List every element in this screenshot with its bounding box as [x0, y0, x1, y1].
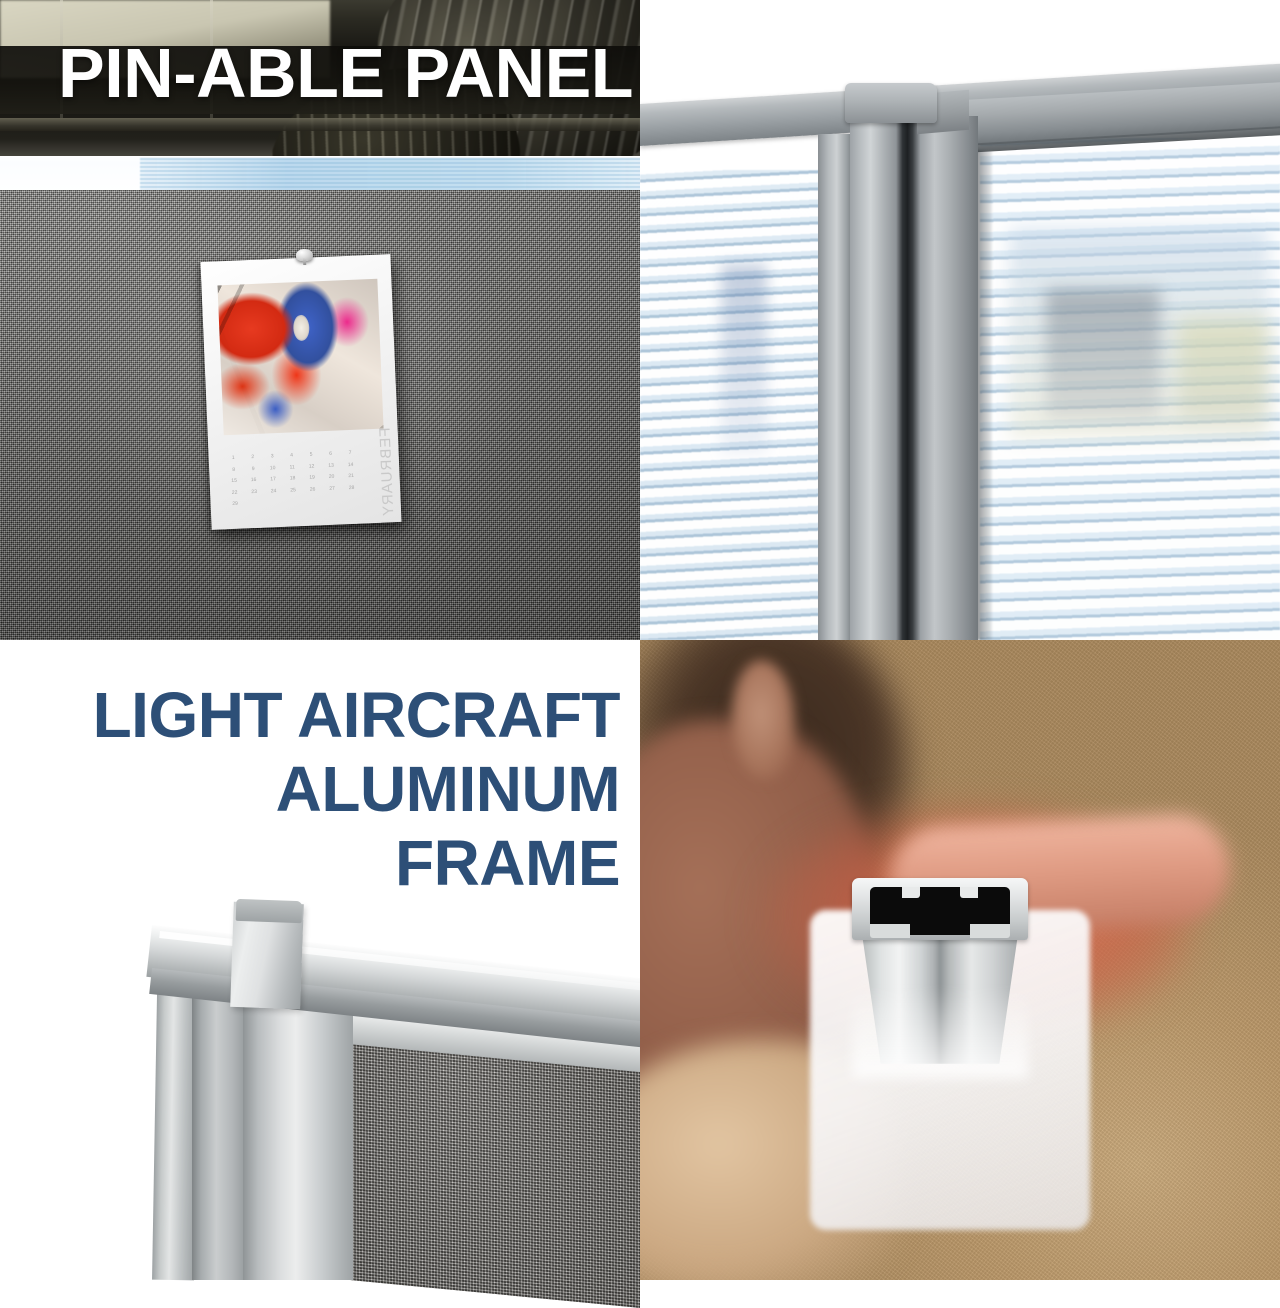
calendar-day: 15 — [227, 476, 240, 488]
calendar-day — [345, 494, 358, 506]
calendar-day: 23 — [247, 486, 260, 498]
calendar-day: 2 — [246, 452, 259, 464]
calendar-day — [267, 497, 280, 509]
fabric-texture — [350, 1035, 640, 1308]
caption-pin-able-panel: PIN-ABLE PANEL — [58, 38, 628, 108]
aluminum-post-front — [243, 985, 353, 1280]
window-foliage — [1178, 319, 1268, 419]
window-building — [1046, 289, 1160, 420]
calendar-day: 27 — [325, 483, 338, 495]
calendar-day — [287, 496, 300, 508]
calendar-day: 24 — [267, 485, 280, 497]
panel-pin-able-panel: 1 2 3 4 5 6 7 8 9 10 11 12 13 14 — [0, 0, 640, 640]
slatted-panel-right — [980, 138, 1280, 640]
calendar-day: 22 — [228, 487, 241, 499]
aluminum-corner-cap — [236, 899, 303, 923]
calendar-day: 7 — [343, 448, 356, 460]
extrusion-depth-blur — [852, 988, 1028, 1078]
post-cap-top — [845, 83, 937, 123]
pinned-calendar: 1 2 3 4 5 6 7 8 9 10 11 12 13 14 — [200, 254, 401, 530]
calendar-day: 12 — [305, 461, 318, 473]
calendar-day — [326, 495, 339, 507]
calendar-day: 14 — [344, 459, 357, 471]
calendar-day: 13 — [324, 460, 337, 472]
extrusion-lip-left — [870, 924, 910, 938]
extrusion-notch-left — [902, 887, 920, 898]
caption-line: ALUMINUM — [20, 752, 620, 826]
calendar-day — [248, 498, 261, 510]
window-glare-band — [0, 156, 640, 192]
calendar-day: 25 — [286, 485, 299, 497]
caption-line: LIGHT AIRCRAFT — [20, 678, 620, 752]
panel-toolless-assembly: TOOLLESS ASSEMBLY — [640, 640, 1280, 1280]
pin-stem — [303, 258, 306, 265]
caption-line: PIN-ABLE PANEL — [58, 38, 628, 108]
aluminum-post-mid — [192, 960, 250, 1280]
extrusion-notch-right — [960, 887, 978, 898]
aluminum-extrusion-profile — [852, 878, 1028, 1068]
calendar-day: 18 — [286, 473, 299, 485]
calendar-day: 8 — [227, 464, 240, 476]
calendar-day: 28 — [345, 482, 358, 494]
panel-customizable-configuration: CUSTOMIZABLE CONFIGURATION — [640, 0, 1280, 640]
ceiling-beam — [0, 118, 640, 131]
push-pin-icon — [296, 249, 314, 267]
fabric-insert-panel — [350, 1035, 640, 1308]
caption-light-aircraft-aluminum-frame: LIGHT AIRCRAFT ALUMINUM FRAME — [20, 678, 620, 901]
aluminum-mullion-left — [818, 134, 852, 640]
calendar-day: 26 — [306, 484, 319, 496]
calendar-day: 6 — [324, 449, 337, 461]
calendar-day: 20 — [325, 472, 338, 484]
calendar-artwork — [217, 279, 383, 436]
calendar-day: 29 — [228, 499, 241, 511]
calendar-day: 9 — [246, 463, 259, 475]
calendar-grid: 1 2 3 4 5 6 7 8 9 10 11 12 13 14 — [226, 448, 358, 515]
calendar-day: 17 — [266, 474, 279, 486]
calendar-day: 10 — [266, 462, 279, 474]
calendar-month-label: FEBRUARY — [377, 427, 398, 517]
calendar-day: 21 — [344, 471, 357, 483]
calendar-day: 5 — [304, 449, 317, 461]
calendar-day: 4 — [285, 450, 298, 462]
calendar-day: 11 — [285, 462, 298, 474]
calendar-day: 16 — [247, 475, 260, 487]
calendar-day — [306, 495, 319, 507]
calendar-day: 19 — [305, 472, 318, 484]
caption-line: FRAME — [20, 826, 620, 900]
feature-collage: 1 2 3 4 5 6 7 8 9 10 11 12 13 14 — [0, 0, 1280, 1280]
aluminum-post — [850, 116, 978, 640]
calendar-day: 3 — [265, 451, 278, 463]
extrusion-lip-right — [970, 924, 1010, 938]
calendar-day: 1 — [226, 453, 239, 465]
